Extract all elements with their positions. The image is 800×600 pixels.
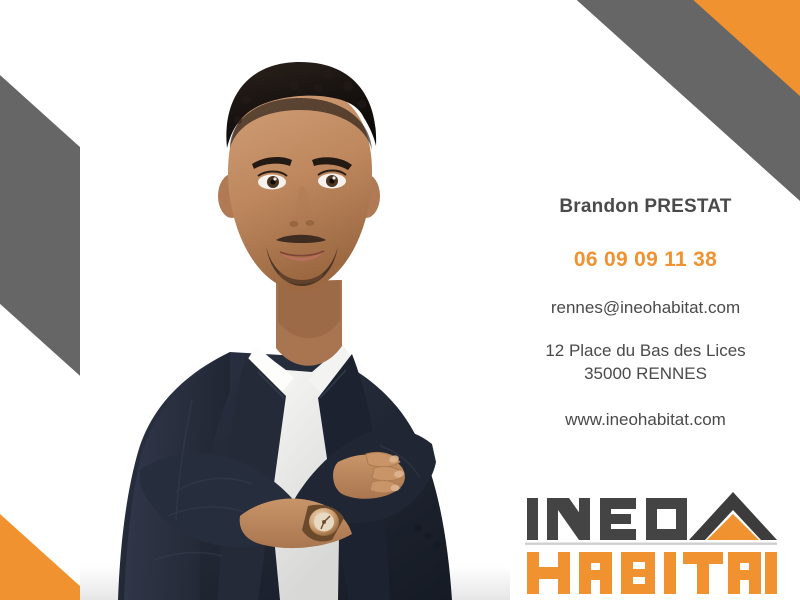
business-card: Brandon PRESTAT 06 09 09 11 38 rennes@in…	[0, 0, 800, 600]
top-right-orange-corner	[572, 0, 800, 168]
logo-divider	[525, 543, 777, 545]
logo-word-habitat	[527, 552, 777, 594]
contact-details: Brandon PRESTAT 06 09 09 11 38 rennes@in…	[498, 196, 793, 430]
portrait-photo	[80, 0, 510, 600]
ineo-habitat-logo[interactable]	[525, 490, 777, 595]
contact-address-line2: 35000 RENNES	[498, 363, 793, 386]
contact-address: 12 Place du Bas des Lices 35000 RENNES	[498, 340, 793, 386]
top-right-gray-stripe	[508, 0, 800, 219]
contact-name: Brandon PRESTAT	[498, 196, 793, 218]
contact-phone[interactable]: 06 09 09 11 38	[498, 248, 793, 272]
logo-word-ineo	[527, 498, 687, 540]
contact-website[interactable]: www.ineohabitat.com	[498, 410, 793, 430]
house-roof-icon	[689, 492, 777, 540]
contact-email[interactable]: rennes@ineohabitat.com	[498, 298, 793, 318]
contact-address-line1: 12 Place du Bas des Lices	[498, 340, 793, 363]
